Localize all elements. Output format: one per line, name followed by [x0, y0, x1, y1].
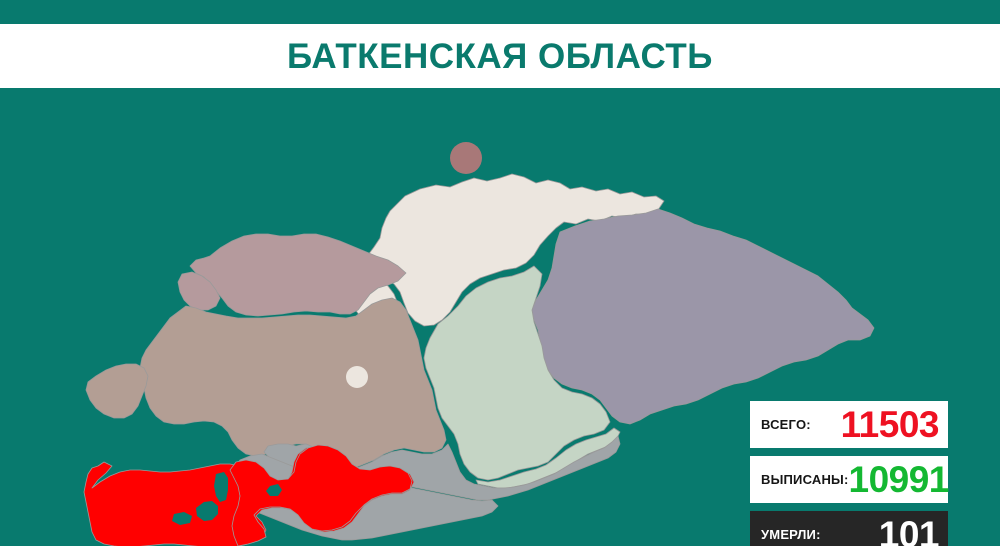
map-region-issyk-kul[interactable]: [532, 209, 874, 424]
map-region-jalal-abad[interactable]: [140, 298, 446, 470]
stat-row-deaths: УМЕРЛИ: 101: [750, 511, 948, 546]
city-marker-osh[interactable]: [346, 366, 368, 388]
page-title: БАТКЕНСКАЯ ОБЛАСТЬ: [287, 39, 713, 74]
stat-value-total: 11503: [841, 406, 939, 443]
title-bar: БАТКЕНСКАЯ ОБЛАСТЬ: [0, 24, 1000, 88]
stats-panel: ВСЕГО: 11503 ВЫПИСАНЫ: 10991 УМЕРЛИ: 101: [750, 401, 948, 546]
stat-value-deaths: 101: [879, 516, 939, 546]
map-region-jalal-abad-west[interactable]: [86, 364, 148, 418]
bottom-accent-bar: [0, 546, 1000, 550]
stat-label-total: ВСЕГО:: [761, 417, 811, 432]
top-accent-bar: [0, 0, 1000, 24]
stat-label-deaths: УМЕРЛИ:: [761, 527, 821, 542]
infographic-screen: БАТКЕНСКАЯ ОБЛАСТЬ: [0, 0, 1000, 550]
map-body: ВСЕГО: 11503 ВЫПИСАНЫ: 10991 УМЕРЛИ: 101: [0, 88, 1000, 546]
stat-value-recovered: 10991: [849, 461, 949, 498]
stat-row-recovered: ВЫПИСАНЫ: 10991: [750, 456, 948, 503]
stat-label-recovered: ВЫПИСАНЫ:: [761, 472, 849, 487]
city-marker-bishkek[interactable]: [450, 142, 482, 174]
stat-row-total: ВСЕГО: 11503: [750, 401, 948, 448]
